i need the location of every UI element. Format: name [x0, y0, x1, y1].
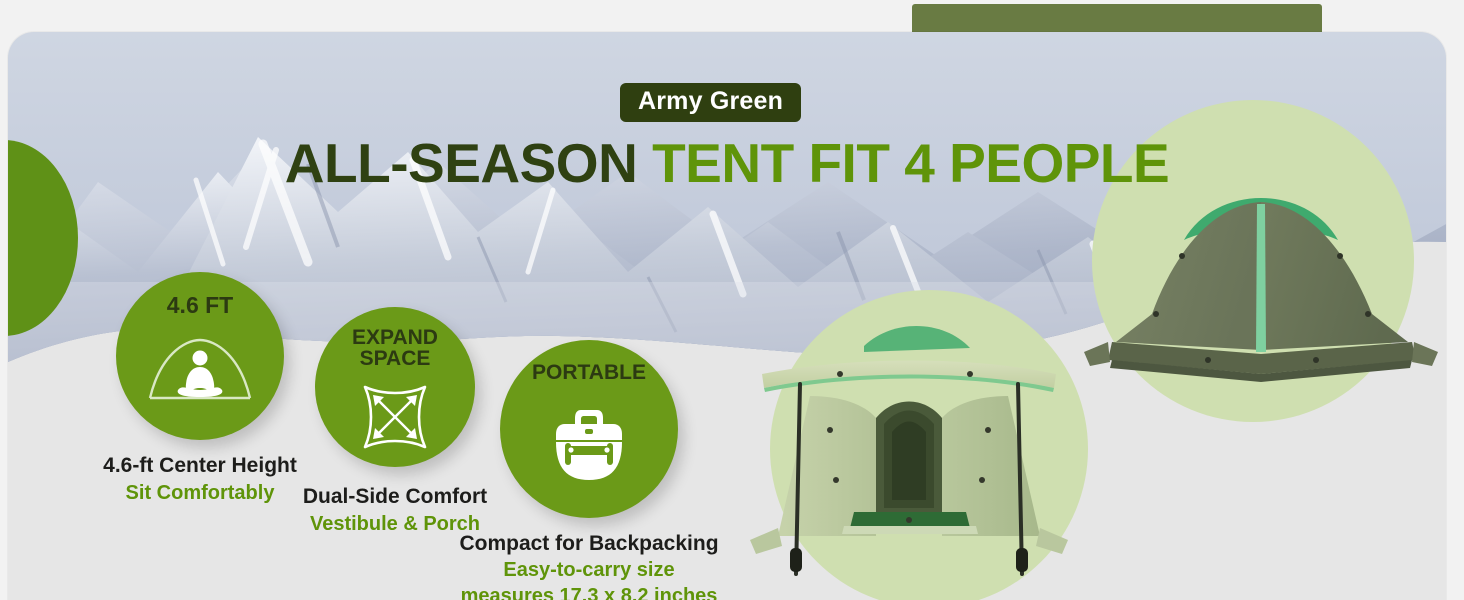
- four-way-expand-arrows-icon: [359, 381, 431, 453]
- feature-3-caption-title: Compact for Backpacking: [388, 532, 790, 556]
- feature-1-circle-label: 4.6 FT: [116, 294, 284, 317]
- feature-3-circle: PORTABLE: [500, 340, 678, 518]
- feature-2-circle-label-line1: EXPAND: [315, 327, 475, 348]
- feature-portable: PORTABLE: [500, 340, 840, 580]
- page-title: ALL-SEASON TENT FIT 4 PEOPLE: [8, 135, 1446, 193]
- feature-3-caption-sub2: measures 17.3 x 8.2 inches: [388, 585, 790, 600]
- promo-banner: Army Green ALL-SEASON TENT FIT 4 PEOPLE …: [0, 0, 1464, 600]
- feature-2-icon-wrap: [315, 381, 475, 453]
- feature-1-caption-title: 4.6-ft Center Height: [96, 454, 304, 478]
- color-variant-badge: Army Green: [620, 83, 801, 122]
- headline-part-lime: TENT FIT 4 PEOPLE: [652, 132, 1169, 194]
- feature-2-circle: EXPAND SPACE: [315, 307, 475, 467]
- feature-2-circle-label-line2: SPACE: [315, 348, 475, 369]
- feature-2-circle-label: EXPAND SPACE: [315, 327, 475, 370]
- feature-3-caption: Compact for Backpacking Easy-to-carry si…: [388, 532, 790, 600]
- feature-1-icon-wrap: [116, 334, 284, 406]
- tent-with-sitting-person-icon: [144, 334, 256, 406]
- backpack-icon: [545, 402, 633, 486]
- feature-3-circle-label: PORTABLE: [500, 362, 678, 383]
- feature-3-caption-sub: Easy-to-carry size: [388, 559, 790, 582]
- feature-1-circle: 4.6 FT: [116, 272, 284, 440]
- headline-part-dark: ALL-SEASON: [285, 132, 638, 194]
- promo-card: Army Green ALL-SEASON TENT FIT 4 PEOPLE …: [8, 32, 1446, 600]
- feature-3-icon-wrap: [500, 402, 678, 486]
